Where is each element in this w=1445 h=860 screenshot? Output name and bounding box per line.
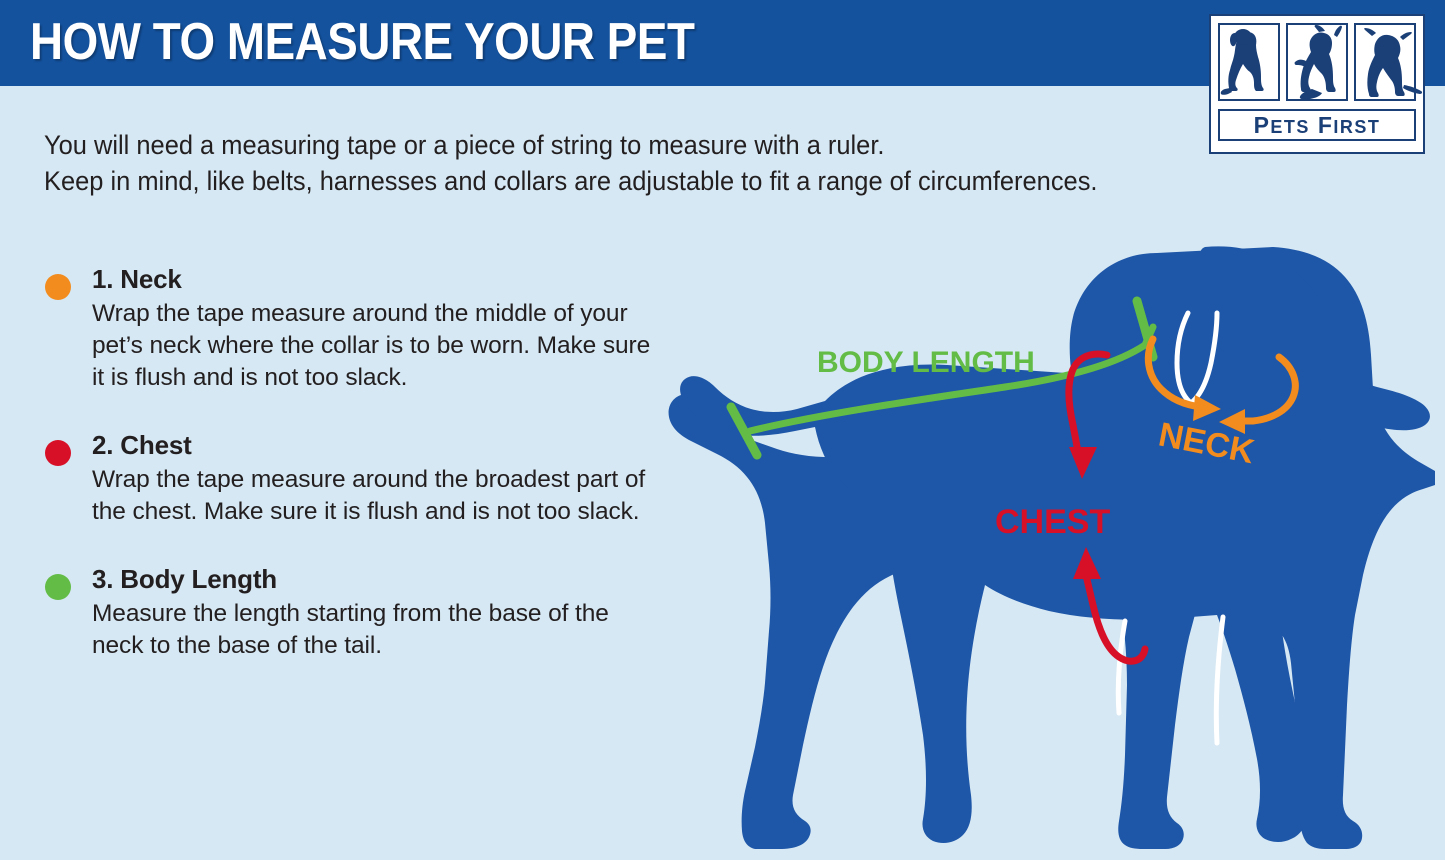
body-length-label: BODY LENGTH	[817, 346, 1035, 379]
bullet-body-length	[45, 574, 71, 600]
step-title-chest: 2. Chest	[92, 428, 660, 462]
logo-wordmark-p: P	[1254, 112, 1271, 138]
logo-pane-2	[1286, 23, 1348, 101]
intro-line-2: Keep in mind, like belts, harnesses and …	[44, 163, 1148, 199]
step-body-chest: Wrap the tape measure around the broades…	[92, 464, 652, 528]
bullet-chest	[45, 440, 71, 466]
step-title-body-length: 3. Body Length	[92, 562, 660, 596]
step-item-chest: 2. Chest Wrap the tape measure around th…	[40, 428, 660, 528]
step-body-neck: Wrap the tape measure around the middle …	[92, 298, 652, 394]
logo-wordmark: PETS FIRST	[1218, 109, 1416, 141]
logo-wordmark-f: F	[1318, 112, 1334, 138]
bullet-neck	[45, 274, 71, 300]
brand-logo: PETS FIRST	[1209, 14, 1425, 154]
logo-pane-1	[1218, 23, 1280, 101]
measurement-steps-list: 1. Neck Wrap the tape measure around the…	[40, 262, 660, 696]
logo-wordmark-irst: IRST	[1333, 117, 1380, 137]
step-title-neck: 1. Neck	[92, 262, 660, 296]
intro-line-1: You will need a measuring tape or a piec…	[44, 127, 1148, 163]
intro-paragraph: You will need a measuring tape or a piec…	[44, 127, 1148, 199]
chest-label: CHEST	[995, 503, 1110, 541]
logo-wordmark-ets: ETS	[1270, 117, 1310, 137]
dog-measurement-diagram: BODY LENGTH NECK CHEST	[645, 235, 1445, 860]
step-body-body-length: Measure the length starting from the bas…	[92, 598, 652, 662]
logo-pane-3	[1354, 23, 1416, 101]
page-title: HOW TO MEASURE YOUR PET	[30, 13, 694, 71]
step-item-body-length: 3. Body Length Measure the length starti…	[40, 562, 660, 662]
step-item-neck: 1. Neck Wrap the tape measure around the…	[40, 262, 660, 394]
